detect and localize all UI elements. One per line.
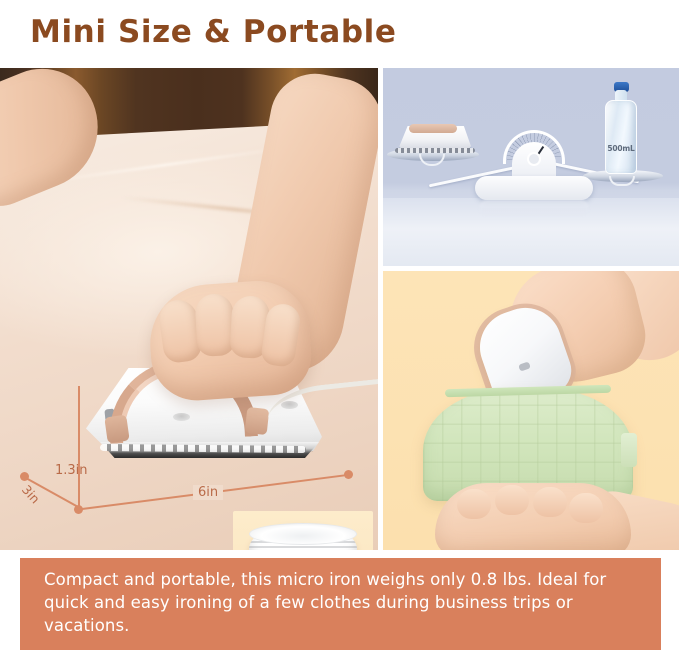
balance-scale-photo: 500mL [383,68,679,266]
scale-pivot [527,152,541,166]
mini-iron-handle-on-scale [409,124,457,133]
pouch-side-tab [621,433,637,467]
caption-banner: Compact and portable, this micro iron we… [20,558,661,650]
panel-gutter-bottom [0,550,679,558]
scale-pan-hanger-right [609,176,635,186]
bottle-body [605,100,637,174]
finger [495,485,529,515]
scale-base-reflection [479,200,589,216]
height-dimension-label: 1.3in [55,463,88,478]
dimension-annotations: 1.3in 3in 6in [0,68,378,550]
finger [457,489,491,519]
dimension-dot-length [344,470,353,479]
scale-pan-hanger-left [419,154,445,166]
bottle-volume-label: 500mL [605,144,637,153]
finger [533,487,567,517]
coiled-cord-top [249,523,357,545]
dimension-dot-depth [20,472,29,481]
height-dimension-line [78,386,80,510]
power-cord-inset: 8FT POWER CORD [233,511,373,550]
mini-iron-soleplate-on-scale [395,148,475,153]
pouch-packing-photo [383,271,679,550]
hand-ironing-photo: 1.3in 3in 6in 8FT POWER CORD [0,68,378,550]
finger [569,493,603,523]
panel-gutter-horizontal [383,266,679,271]
product-feature-image: Mini Size & Portable 1. [0,0,679,666]
length-dimension-label: 6in [193,485,223,500]
caption-text: Compact and portable, this micro iron we… [44,569,639,637]
page-title: Mini Size & Portable [30,14,397,50]
panel-gutter-vertical [378,68,383,550]
scale-base [475,176,593,200]
water-bottle: 500mL [605,82,637,174]
title-bar: Mini Size & Portable [0,0,679,68]
